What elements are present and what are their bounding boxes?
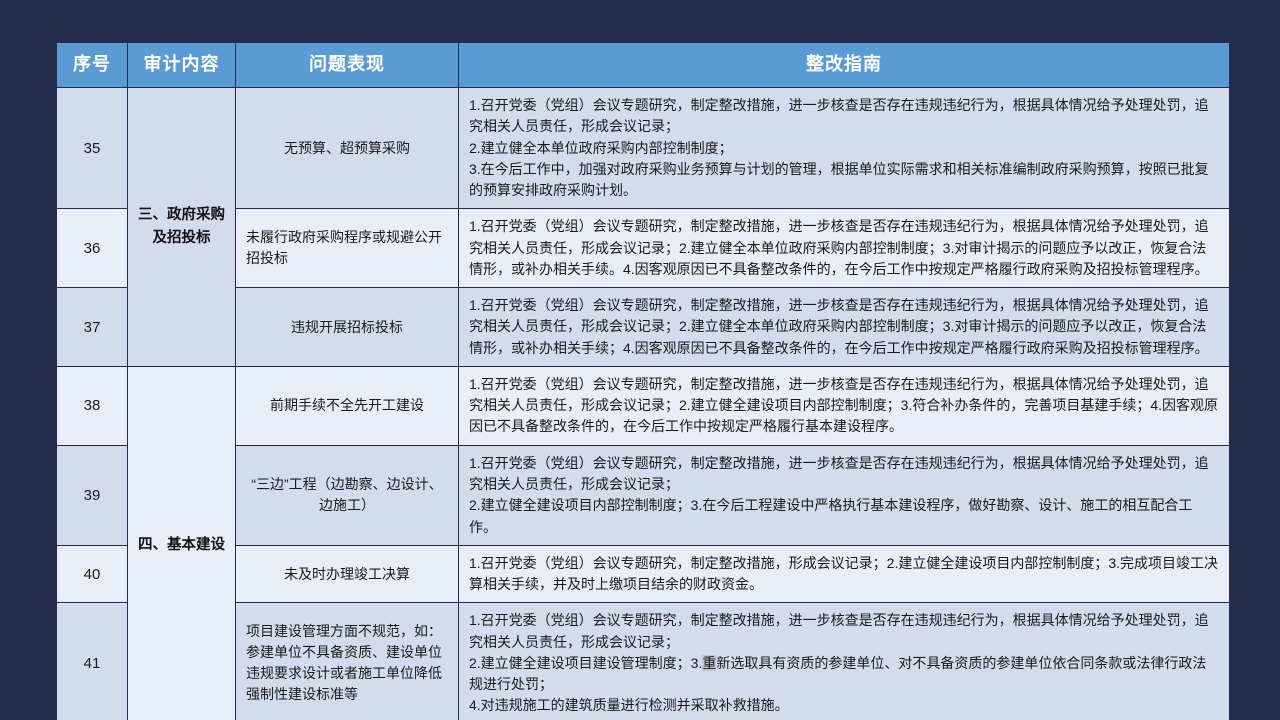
cell-problem: 未及时办理竣工决算 [236, 546, 458, 603]
cell-no: 38 [57, 367, 127, 445]
cell-problem: 项目建设管理方面不规范，如：参建单位不具备资质、建设单位违规要求设计或者施工单位… [236, 603, 458, 720]
cell-no: 37 [57, 288, 127, 366]
cell-problem: 未履行政府采购程序或规避公开招投标 [236, 209, 458, 287]
cell-guide: 1.召开党委（党组）会议专题研究，制定整改措施，进一步核查是否存在违规违纪行为，… [459, 288, 1229, 366]
cell-guide: 1.召开党委（党组）会议专题研究，制定整改措施，进一步核查是否存在违规违纪行为，… [459, 209, 1229, 287]
cell-no: 35 [57, 88, 127, 208]
cell-category-capital-construction: 四、基本建设 [128, 367, 235, 720]
table-row: 38 四、基本建设 前期手续不全先开工建设 1.召开党委（党组）会议专题研究，制… [57, 367, 1229, 445]
slide-canvas: 序号 审计内容 问题表现 整改指南 35 三、政府采购及招投标 无预算、超预算采… [0, 0, 1280, 720]
audit-rectification-table: 序号 审计内容 问题表现 整改指南 35 三、政府采购及招投标 无预算、超预算采… [56, 42, 1230, 720]
cell-category-government-procurement: 三、政府采购及招投标 [128, 88, 235, 366]
column-header-problem: 问题表现 [236, 43, 458, 87]
cell-guide: 1.召开党委（党组）会议专题研究，制定整改措施，进一步核查是否存在违规违纪行为，… [459, 88, 1229, 208]
cell-no: 39 [57, 446, 127, 545]
guide-line: 2.建立健全本单位政府采购内部控制制度； [469, 138, 1220, 159]
guide-line: 1.召开党委（党组）会议专题研究，制定整改措施，进一步核查是否存在违规违纪行为，… [469, 95, 1220, 138]
guide-line-with-selection: 2.建立健全建设项目建设管理制度；3.重新选取具有资质的参建单位、对不具备资质的… [469, 653, 1220, 696]
cell-problem: 前期手续不全先开工建设 [236, 367, 458, 445]
table-row: 35 三、政府采购及招投标 无预算、超预算采购 1.召开党委（党组）会议专题研究… [57, 88, 1229, 208]
guide-line: 4.对违规施工的建筑质量进行检测并采取补救措施。 [469, 695, 1220, 716]
selected-character: 重 [702, 655, 716, 671]
cell-problem: “三边”工程（边勘察、边设计、边施工） [236, 446, 458, 545]
table-header-row: 序号 审计内容 问题表现 整改指南 [57, 43, 1229, 87]
cell-no: 36 [57, 209, 127, 287]
column-header-content: 审计内容 [128, 43, 235, 87]
cell-problem: 无预算、超预算采购 [236, 88, 458, 208]
cell-guide: 1.召开党委（党组）会议专题研究，制定整改措施，进一步核查是否存在违规违纪行为，… [459, 603, 1229, 720]
guide-line: 1.召开党委（党组）会议专题研究，制定整改措施，进一步核查是否存在违规违纪行为，… [469, 374, 1220, 438]
guide-line: 3.在今后工作中，加强对政府采购业务预算与计划的管理，根据单位实际需求和相关标准… [469, 159, 1220, 202]
guide-line: 1.召开党委（党组）会议专题研究，制定整改措施，进一步核查是否存在违规违纪行为，… [469, 295, 1220, 359]
guide-line: 1.召开党委（党组）会议专题研究，制定整改措施，形成会议记录；2.建立健全建设项… [469, 553, 1220, 596]
guide-line: 2.建立健全建设项目内部控制制度；3.在今后工程建设中严格执行基本建设程序，做好… [469, 495, 1220, 538]
guide-line: 1.召开党委（党组）会议专题研究，制定整改措施，进一步核查是否存在违规违纪行为，… [469, 216, 1220, 280]
guide-line: 1.召开党委（党组）会议专题研究，制定整改措施，进一步核查是否存在违规违纪行为，… [469, 453, 1220, 496]
guide-line: 1.召开党委（党组）会议专题研究，制定整改措施，进一步核查是否存在违规违纪行为，… [469, 610, 1220, 653]
cell-no: 40 [57, 546, 127, 603]
column-header-no: 序号 [57, 43, 127, 87]
cell-problem: 违规开展招标投标 [236, 288, 458, 366]
column-header-guide: 整改指南 [459, 43, 1229, 87]
cell-guide: 1.召开党委（党组）会议专题研究，制定整改措施，形成会议记录；2.建立健全建设项… [459, 546, 1229, 603]
cell-guide: 1.召开党委（党组）会议专题研究，制定整改措施，进一步核查是否存在违规违纪行为，… [459, 367, 1229, 445]
cell-guide: 1.召开党委（党组）会议专题研究，制定整改措施，进一步核查是否存在违规违纪行为，… [459, 446, 1229, 545]
cell-no: 41 [57, 603, 127, 720]
